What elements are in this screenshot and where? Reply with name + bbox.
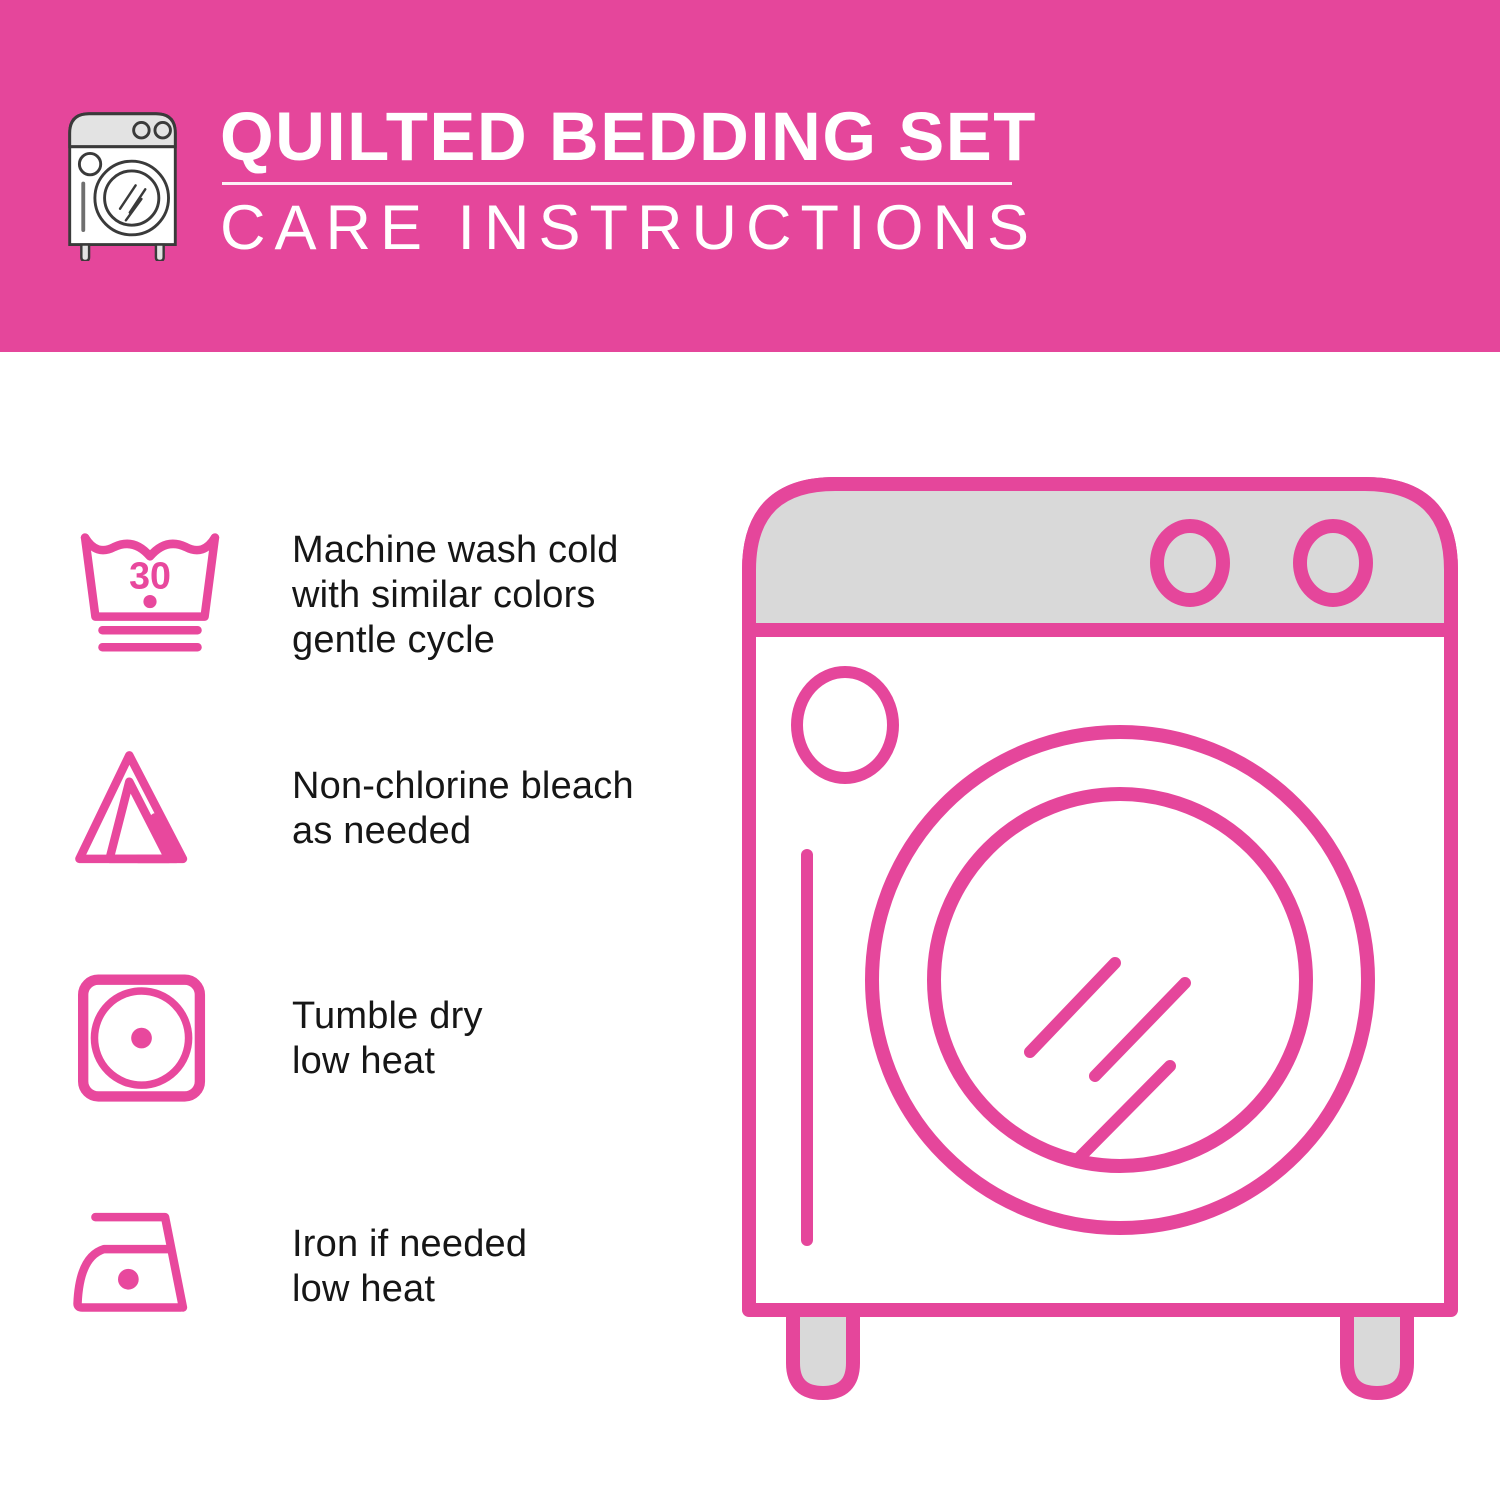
care-item-label: Iron if needed low heat — [292, 1222, 527, 1312]
header-content: QUILTED BEDDING SET CARE INSTRUCTIONS — [60, 100, 1038, 261]
care-item-tumble-dry: Tumble dry low heat — [70, 964, 720, 1114]
machine-leg-left — [793, 1310, 853, 1393]
care-item-bleach: Non-chlorine bleach as needed — [70, 734, 720, 884]
knob-left[interactable] — [1157, 526, 1223, 600]
iron-icon — [70, 1192, 230, 1342]
wash-temperature-label: 30 — [129, 554, 171, 596]
header-banner: QUILTED BEDDING SET CARE INSTRUCTIONS — [0, 0, 1500, 352]
care-instructions-page: QUILTED BEDDING SET CARE INSTRUCTIONS 30 — [0, 0, 1500, 1500]
care-item-label: Non-chlorine bleach as needed — [292, 764, 634, 854]
wash-tub-30-icon: 30 — [70, 520, 230, 670]
knob-right[interactable] — [1300, 526, 1366, 600]
care-instructions-list: 30 Machine wash cold with similar colors… — [0, 352, 740, 1500]
page-subtitle: CARE INSTRUCTIONS — [220, 195, 1038, 261]
washing-machine-icon — [60, 106, 185, 261]
tumble-dry-icon — [70, 964, 230, 1114]
care-item-iron: Iron if needed low heat — [70, 1192, 720, 1342]
care-item-machine-wash: 30 Machine wash cold with similar colors… — [70, 520, 720, 670]
front-load-washing-machine-illustration — [735, 470, 1465, 1430]
care-item-label: Machine wash cold with similar colors ge… — [292, 528, 619, 663]
page-title: QUILTED BEDDING SET — [220, 100, 1038, 174]
care-item-label: Tumble dry low heat — [292, 994, 483, 1084]
machine-leg-right — [1347, 1310, 1407, 1393]
title-divider — [222, 182, 1012, 185]
detergent-dial[interactable] — [797, 672, 893, 778]
bleach-triangle-icon — [70, 734, 230, 884]
header-title-block: QUILTED BEDDING SET CARE INSTRUCTIONS — [220, 100, 1038, 261]
